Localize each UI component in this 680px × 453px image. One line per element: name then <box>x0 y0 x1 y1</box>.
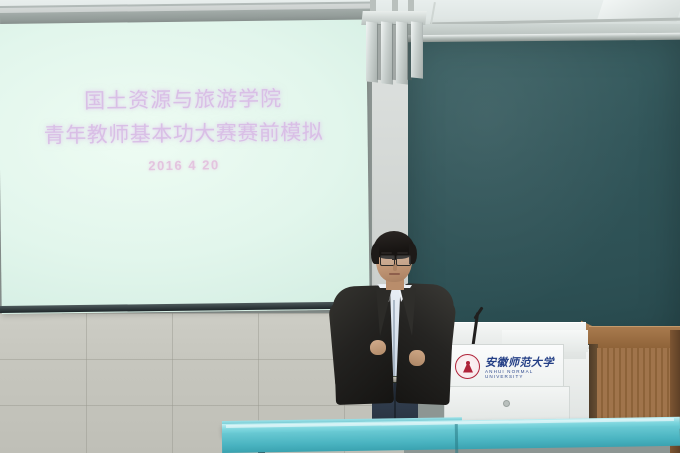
slide-content: 国土资源与旅游学院 青年教师基本功大赛赛前模拟 2016 4 20 <box>0 20 370 314</box>
projection-screen: 国土资源与旅游学院 青年教师基本功大赛赛前模拟 2016 4 20 <box>0 20 370 314</box>
presenter-nose <box>393 264 397 271</box>
university-crest-icon <box>455 354 480 379</box>
presenter-left-hand <box>370 340 386 355</box>
lectern-front-panel: 安徽师范大学 ANHUI NORMAL UNIVERSITY <box>446 344 564 388</box>
glasses-icon <box>396 255 411 266</box>
glasses-bridge <box>392 259 397 260</box>
slide-title-line-2: 青年教师基本功大赛赛前模拟 <box>44 118 324 151</box>
crest-emblem <box>463 361 473 372</box>
shirt-placket <box>393 300 395 378</box>
presenter <box>330 228 454 428</box>
screen-housing-highlight <box>0 3 372 13</box>
light-louver <box>411 21 423 78</box>
lectern-knob <box>503 400 510 407</box>
jacket-lapel-right <box>400 288 416 336</box>
lecture-hall-photo: 国土资源与旅游学院 青年教师基本功大赛赛前模拟 2016 4 20 安徽师范大学… <box>0 0 680 453</box>
jacket-lapel-left <box>376 288 392 336</box>
university-name-cn: 安徽师范大学 <box>485 354 554 370</box>
university-name-en: ANHUI NORMAL UNIVERSITY <box>485 369 563 379</box>
presenter-hair-side <box>371 244 379 264</box>
slide-date: 2016 4 20 <box>148 157 220 173</box>
slide-title-line-1: 国土资源与旅游学院 <box>84 85 282 117</box>
desk-seam <box>455 424 458 453</box>
presenter-mouth <box>389 273 400 275</box>
presenter-right-hand <box>409 350 425 366</box>
eyebrow <box>381 252 392 254</box>
eyebrow <box>397 252 408 254</box>
grout-line <box>86 313 87 453</box>
grout-line <box>172 313 173 453</box>
podium-top <box>589 326 680 349</box>
